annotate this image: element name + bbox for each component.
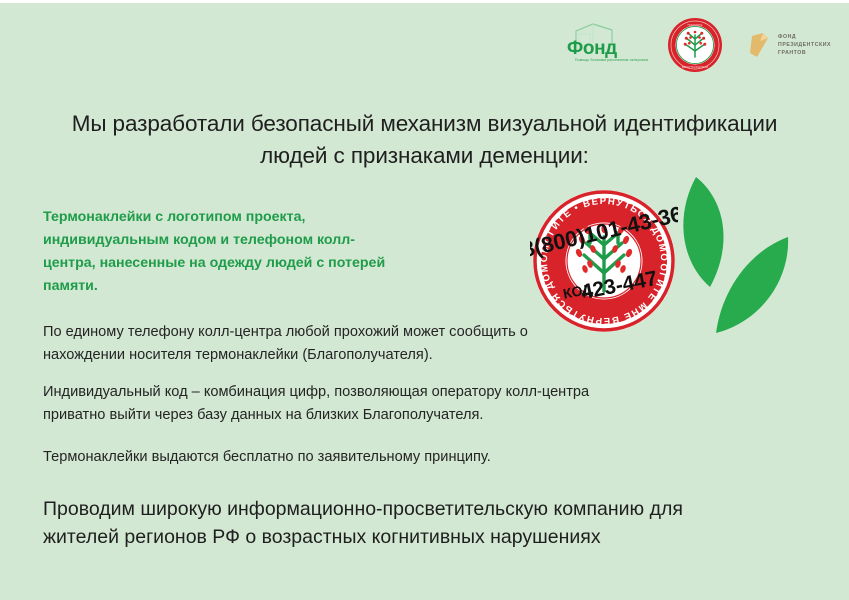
body-paragraph-3: Термонаклейки выдаются бесплатно по заяв… <box>43 446 583 469</box>
presidential-grants-text: ФОНД ПРЕЗИДЕНТСКИХ ГРАНТОВ <box>778 33 831 57</box>
leaf-tilted-icon <box>716 237 788 333</box>
slide-heading: Мы разработали безопасный механизм визуа… <box>42 108 807 172</box>
pg-line-1: ФОНД <box>778 33 831 41</box>
pg-line-3: ГРАНТОВ <box>778 49 831 57</box>
svg-text:ПОМОГИТЕ: ПОМОГИТЕ <box>688 23 703 27</box>
red-seal-logo: ПОМОГИТЕ ВЕРНУТЬСЯ ДОМОЙ <box>667 17 723 73</box>
ribbon-icon <box>749 32 771 58</box>
pg-line-2: ПРЕЗИДЕНТСКИХ <box>778 41 831 49</box>
fond-logo: Фонд Помощь больным рассеянным склерозом <box>567 22 641 68</box>
slide-canvas: Фонд Помощь больным рассеянным склерозом <box>0 0 849 600</box>
presidential-grants-logo: ФОНД ПРЕЗИДЕНТСКИХ ГРАНТОВ <box>749 32 831 58</box>
green-highlight-paragraph: Термонаклейки с логотипом проекта, индив… <box>43 206 403 298</box>
artwork-group: ПОМОГИТЕ • ВЕРНУТЬСЯ ДОМОЙ ПОМОГИТЕ МНЕ … <box>520 171 849 356</box>
logo-bar: Фонд Помощь больным рассеянным склерозом <box>567 17 831 73</box>
fond-logo-word: Фонд <box>567 39 617 58</box>
seal-emblem-icon: ПОМОГИТЕ ВЕРНУТЬСЯ ДОМОЙ <box>667 17 723 73</box>
closing-statement: Проводим широкую информационно-просветит… <box>43 496 733 551</box>
body-paragraph-1: По единому телефону колл-центра любой пр… <box>43 321 603 366</box>
body-paragraph-2: Индивидуальный код – комбинация цифр, по… <box>43 381 623 426</box>
project-stamp: ПОМОГИТЕ • ВЕРНУТЬСЯ ДОМОЙ ПОМОГИТЕ МНЕ … <box>530 187 678 335</box>
fond-logo-subtitle: Помощь больным рассеянным склерозом <box>575 58 648 62</box>
svg-text:ВЕРНУТЬСЯ ДОМОЙ: ВЕРНУТЬСЯ ДОМОЙ <box>682 65 708 69</box>
leaf-upright-icon <box>683 177 723 287</box>
